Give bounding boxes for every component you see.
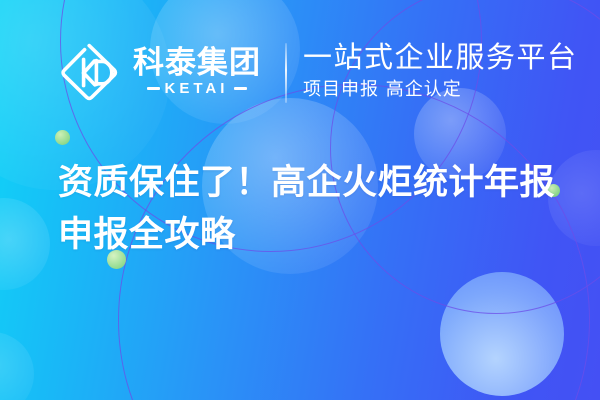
decorative-circle-bottom-right — [440, 272, 564, 396]
decorative-dot-left — [55, 130, 70, 145]
promo-banner: 科泰集团 KETAI 一站式企业服务平台 项目申报 高企认定 资质保住了！高企火… — [0, 0, 600, 400]
header-divider — [285, 43, 287, 103]
brand-name-en-row: KETAI — [147, 81, 248, 97]
banner-headline: 资质保住了！高企火炬统计年报申报全攻略 — [58, 157, 558, 261]
brand-wordmark: 科泰集团 KETAI — [133, 47, 261, 96]
tagline-primary: 一站式企业服务平台 — [303, 40, 578, 74]
brand-logo[interactable]: 科泰集团 KETAI — [58, 40, 261, 104]
banner-header: 科泰集团 KETAI 一站式企业服务平台 项目申报 高企认定 — [0, 0, 600, 130]
brand-name-en: KETAI — [165, 81, 229, 97]
decorative-circle-left-middle — [0, 198, 50, 290]
decorative-circle-left-lower — [0, 332, 34, 400]
header-tagline: 一站式企业服务平台 项目申报 高企认定 — [303, 40, 578, 101]
ketai-kd-monogram-icon — [58, 40, 122, 104]
tagline-secondary: 项目申报 高企认定 — [303, 79, 578, 101]
brand-name-cn: 科泰集团 — [133, 47, 261, 79]
wordmark-rule-right — [234, 87, 247, 90]
wordmark-rule-left — [147, 87, 160, 90]
